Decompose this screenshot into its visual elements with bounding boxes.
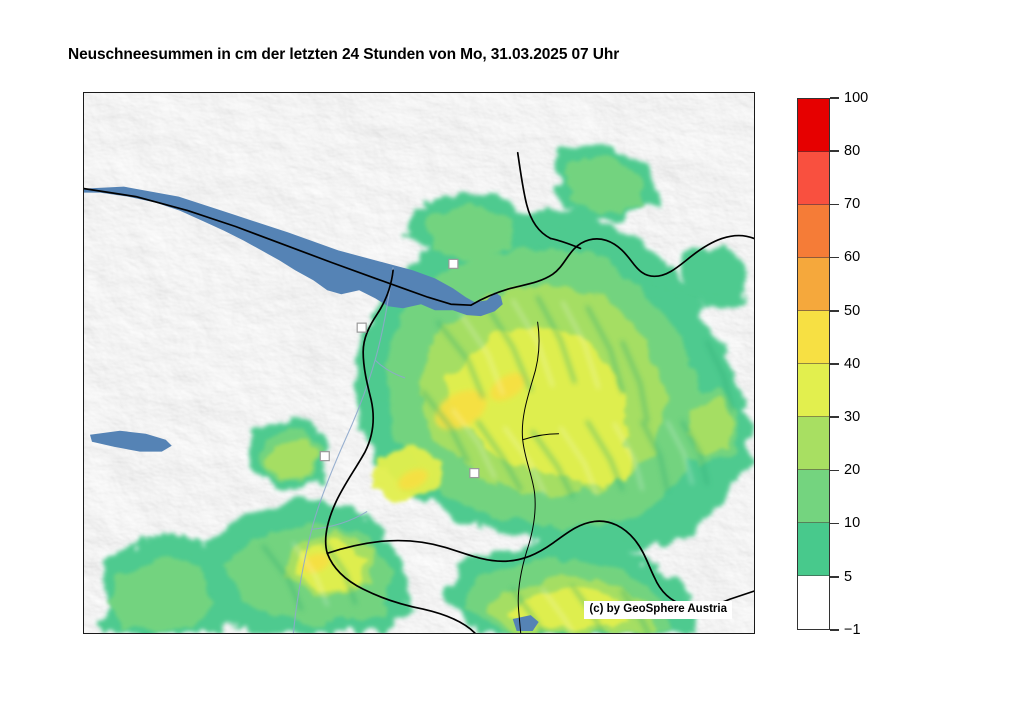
colorbar-tick-label: 5: [844, 570, 852, 585]
colorbar-tick-mark: [830, 470, 839, 472]
snow-depth-colorbar: [797, 98, 830, 630]
colorbar-tick-mark: [830, 629, 839, 631]
colorbar-tick-label: 80: [844, 144, 860, 159]
colorbar-band-50-60: [798, 258, 829, 311]
colorbar-tick-mark: [830, 97, 839, 99]
colorbar-band-70-80: [798, 152, 829, 205]
colorbar-tick-label: 40: [844, 357, 860, 372]
colorbar-tick-mark: [830, 204, 839, 206]
colorbar-band--1-5: [798, 576, 829, 629]
colorbar-tick-labels: 10080706050403020105−1: [830, 98, 900, 630]
colorbar-tick-mark: [830, 257, 839, 259]
colorbar-band-40-50: [798, 311, 829, 364]
colorbar-tick-label: 10: [844, 516, 860, 531]
colorbar-band-10-20: [798, 470, 829, 523]
colorbar-tick-label: −1: [844, 623, 861, 638]
colorbar-tick-label: 70: [844, 197, 860, 212]
colorbar-band-5-10: [798, 523, 829, 576]
colorbar-tick-mark: [830, 363, 839, 365]
attribution-label: (c) by GeoSphere Austria: [584, 601, 732, 619]
station-marker[interactable]: [449, 259, 458, 268]
colorbar-tick-mark: [830, 310, 839, 312]
colorbar-tick-mark: [830, 523, 839, 525]
colorbar-band-80-100: [798, 99, 829, 152]
colorbar-band-30-40: [798, 364, 829, 417]
colorbar-band-60-70: [798, 205, 829, 258]
colorbar-tick-label: 100: [844, 91, 868, 106]
colorbar-tick-mark: [830, 576, 839, 578]
colorbar-tick-mark: [830, 416, 839, 418]
colorbar-tick-label: 60: [844, 250, 860, 265]
colorbar-band-20-30: [798, 417, 829, 470]
station-marker[interactable]: [320, 452, 329, 461]
station-marker[interactable]: [357, 323, 366, 332]
colorbar-tick-label: 20: [844, 463, 860, 478]
station-marker[interactable]: [470, 469, 479, 478]
map-canvas: [84, 93, 754, 633]
colorbar-tick-label: 50: [844, 304, 860, 319]
page-title: Neuschneesummen in cm der letzten 24 Stu…: [68, 46, 619, 64]
snow-depth-map[interactable]: (c) by GeoSphere Austria: [83, 92, 755, 634]
colorbar-tick-label: 30: [844, 410, 860, 425]
colorbar-tick-mark: [830, 150, 839, 152]
